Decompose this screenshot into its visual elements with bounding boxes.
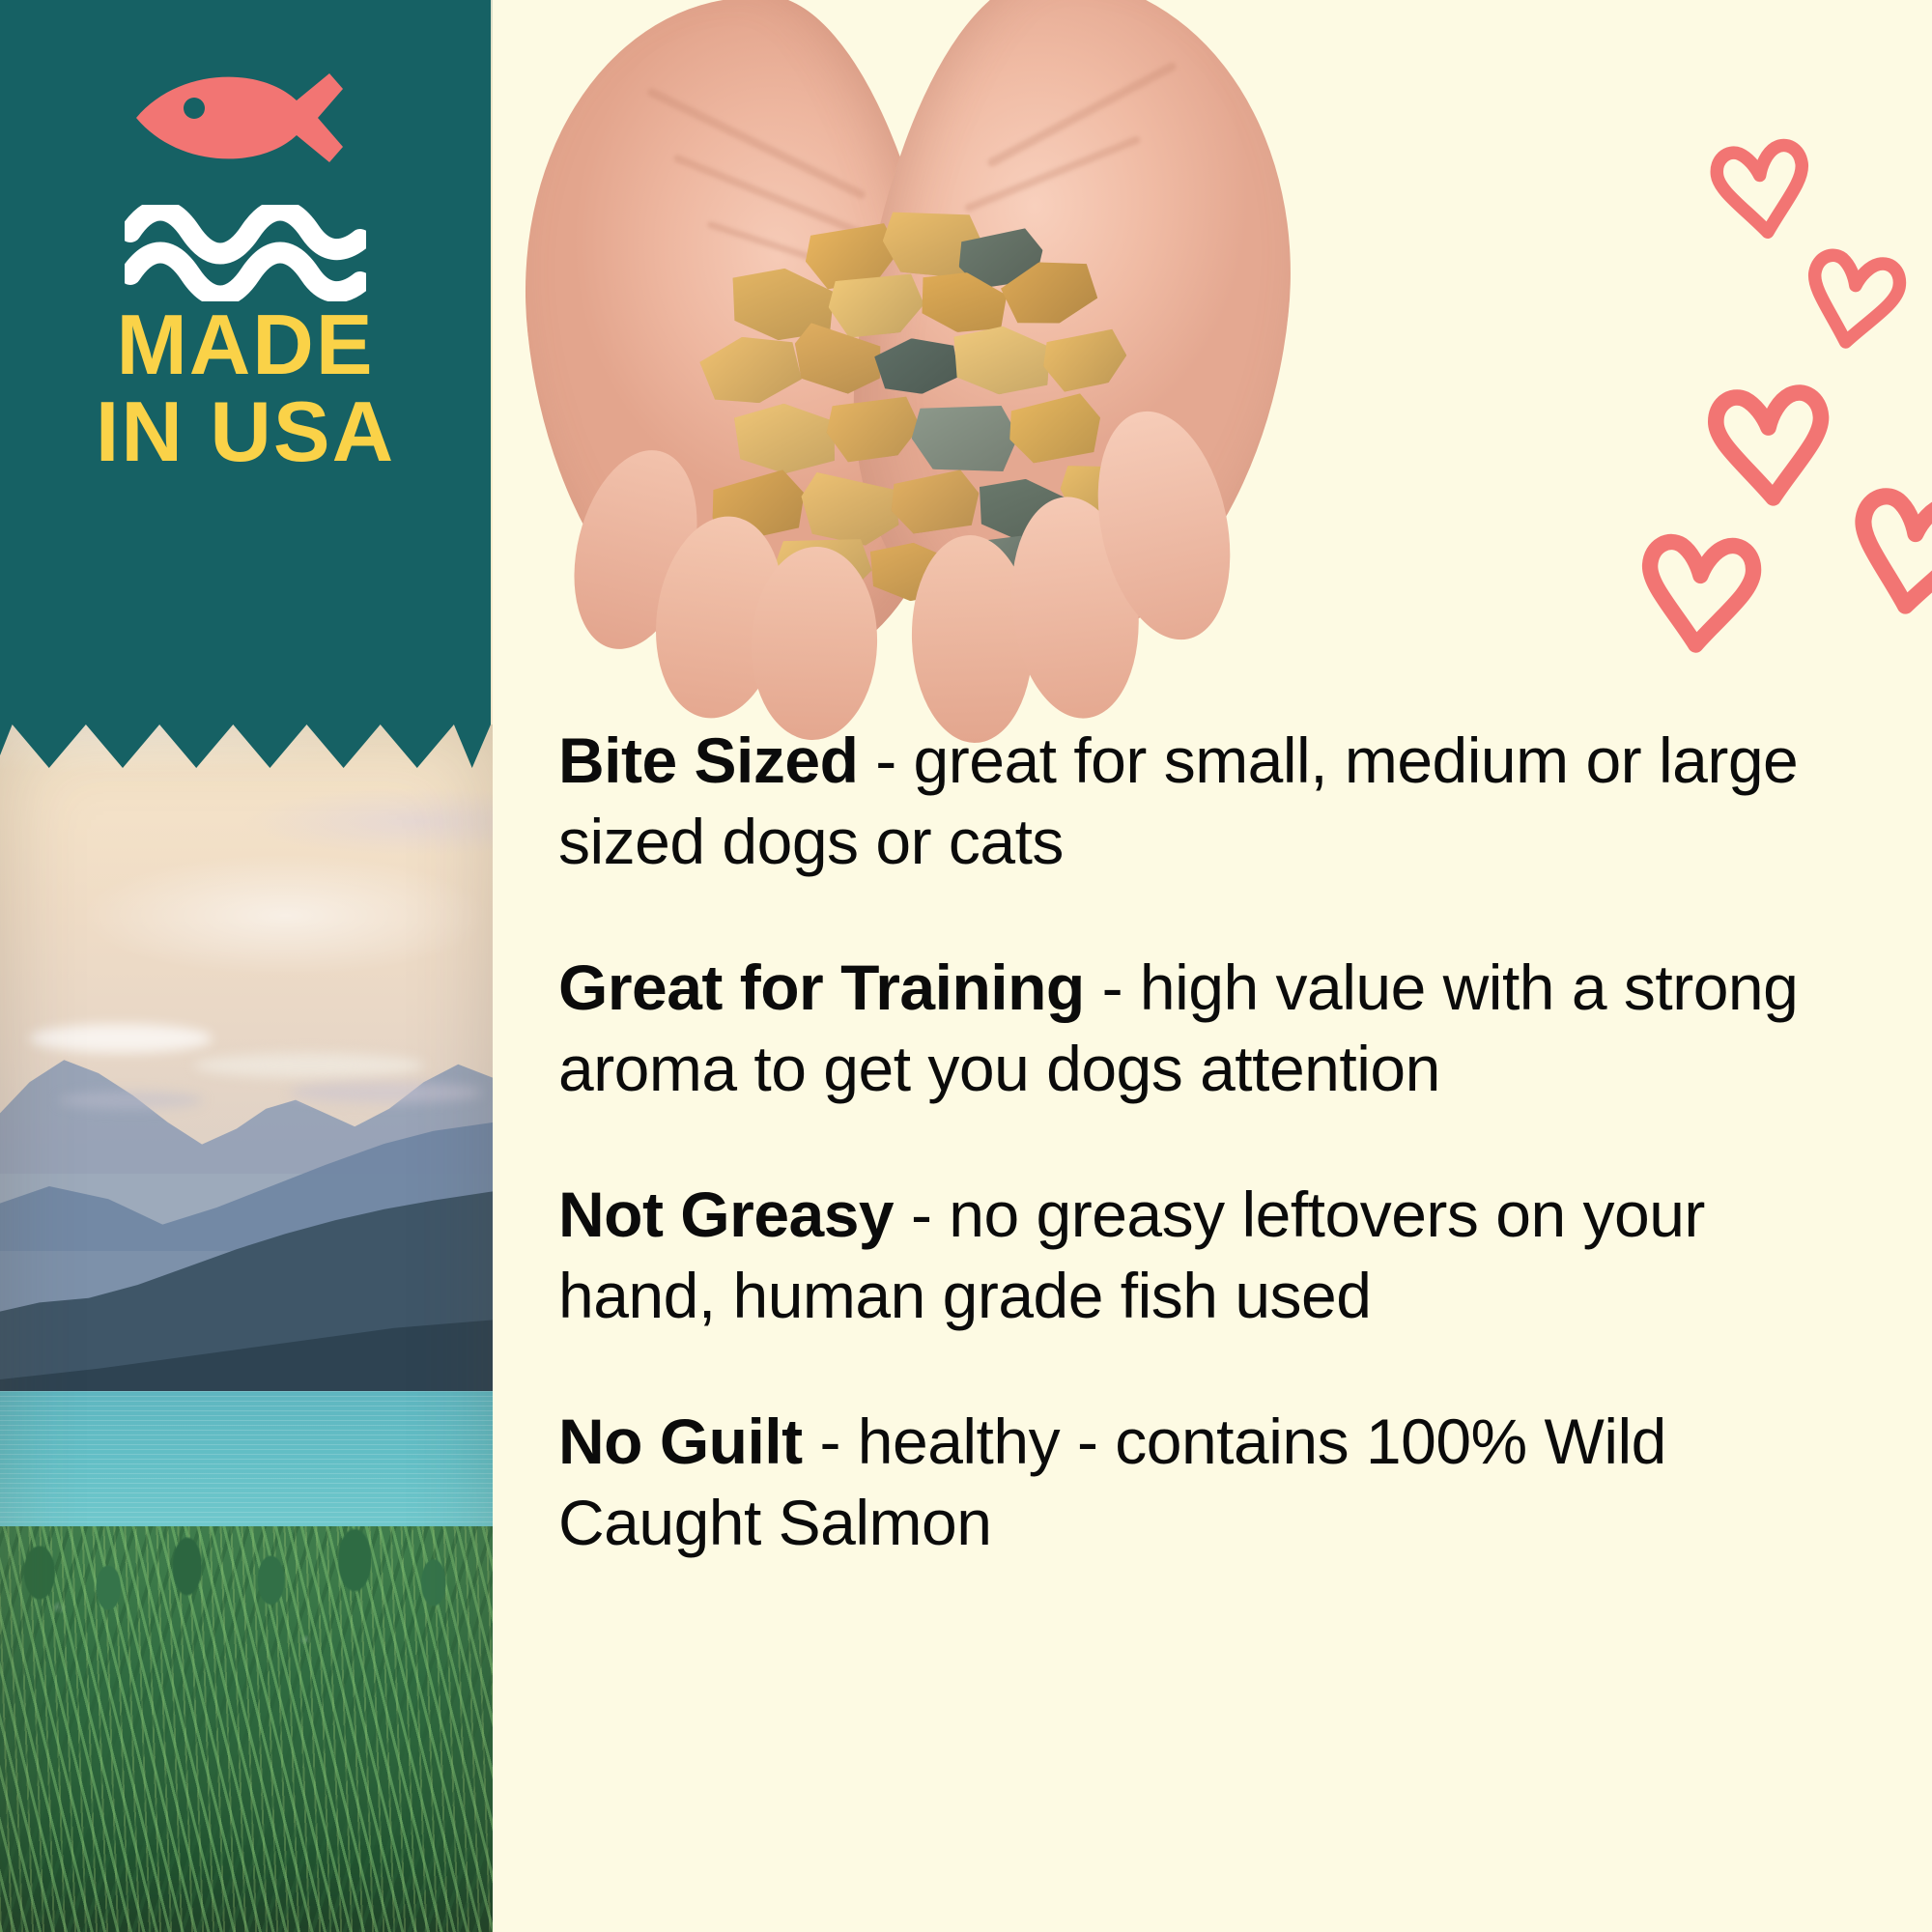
feature-no-guilt: No Guilt - healthy - contains 100% Wild …	[558, 1401, 1872, 1564]
treat-piece	[1037, 322, 1133, 398]
right-content-area: Bite Sized - great for small, medium or …	[493, 0, 1932, 1932]
made-line-1: MADE	[116, 297, 374, 392]
feature-lead: No Guilt	[558, 1406, 803, 1477]
feature-lead: Bite Sized	[558, 724, 858, 796]
waves-icon-wrap	[0, 205, 491, 301]
made-in-usa-banner: MADE IN USA	[0, 0, 491, 769]
heart-4-icon	[1634, 526, 1764, 665]
feature-lead: Great for Training	[558, 952, 1085, 1023]
made-in-usa-text: MADE IN USA	[0, 301, 491, 475]
heart-2-icon	[1794, 240, 1912, 363]
treat-piece	[888, 467, 982, 535]
heart-1-icon	[1705, 130, 1820, 251]
left-column: MADE IN USA	[0, 0, 493, 1932]
treat-piece	[1005, 390, 1105, 467]
treat-piece	[821, 389, 924, 469]
cloud	[290, 1082, 483, 1103]
feature-lead: Not Greasy	[558, 1179, 894, 1250]
cloud	[58, 1092, 203, 1109]
treat-piece	[729, 399, 840, 479]
treat-piece	[910, 398, 1021, 474]
infographic-canvas: MADE IN USA Bite Sized - great for small…	[0, 0, 1932, 1932]
feature-bite-sized: Bite Sized - great for small, medium or …	[558, 720, 1872, 883]
heart-5-icon	[1840, 477, 1932, 632]
treat-piece	[796, 470, 904, 550]
feature-not-greasy: Not Greasy - no greasy leftovers on your…	[558, 1174, 1872, 1337]
shore-vegetation	[0, 1526, 493, 1932]
hands-holding-treats-photo	[522, 0, 1314, 728]
water-waves-icon	[125, 205, 366, 301]
treat-piece	[873, 335, 960, 397]
fish-icon-wrap	[0, 60, 491, 176]
feature-great-for-training: Great for Training - high value with a s…	[558, 947, 1872, 1110]
cloud	[193, 1053, 425, 1078]
cloud	[29, 1024, 213, 1053]
treat-piece	[697, 329, 805, 411]
feature-list: Bite Sized - great for small, medium or …	[558, 720, 1911, 1564]
fish-icon	[125, 60, 366, 176]
made-line-2: IN USA	[0, 388, 491, 475]
heart-3-icon	[1703, 377, 1835, 519]
